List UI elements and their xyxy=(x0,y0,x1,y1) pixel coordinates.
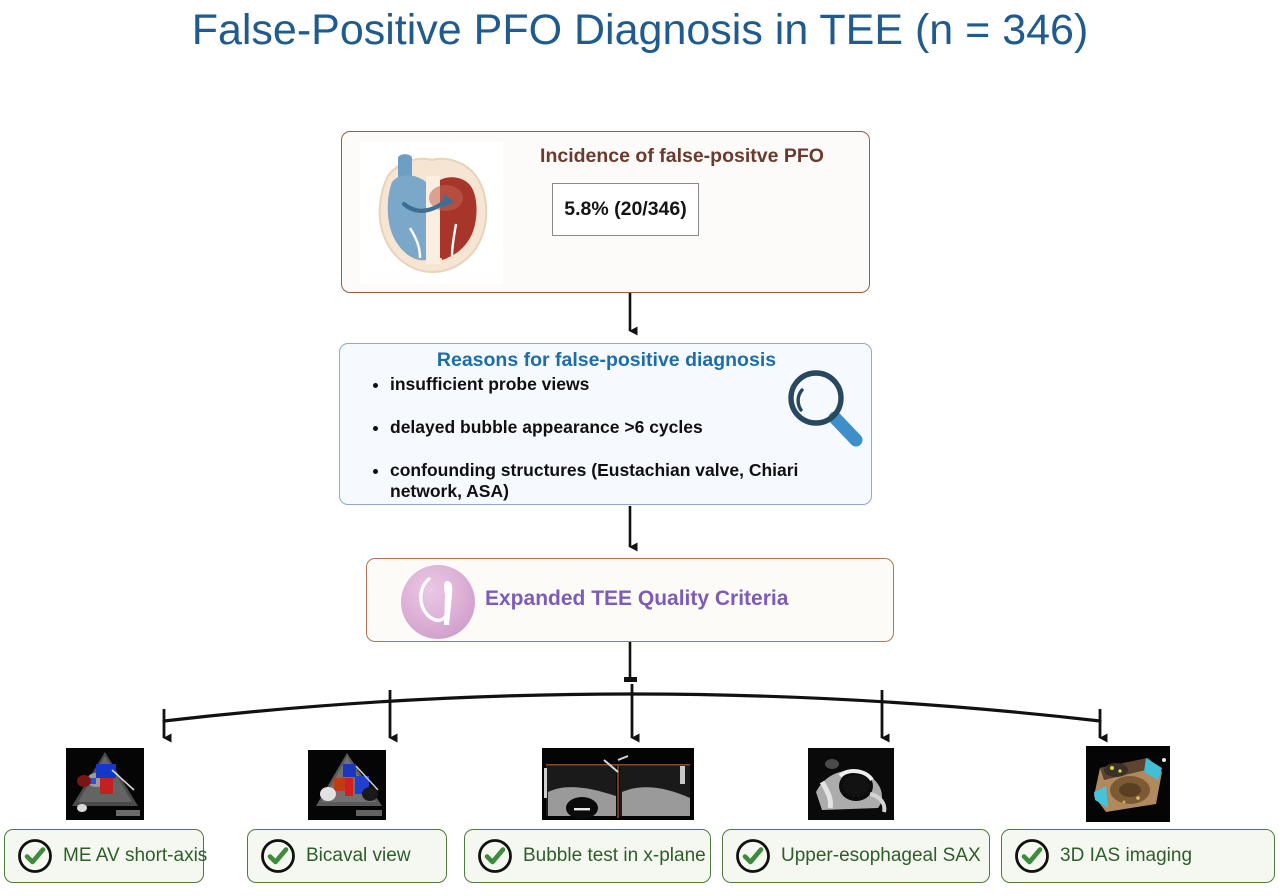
criteria-pill-bicaval-view[interactable]: Bicaval view xyxy=(247,829,447,883)
tee-probe-icon xyxy=(399,563,477,641)
criteria-pill-label: Bicaval view xyxy=(306,845,411,867)
criteria-pill-label: 3D IAS imaging xyxy=(1060,845,1192,867)
check-circle-icon xyxy=(735,838,771,874)
incidence-card: Incidence of false-positve PFO 5.8% (20/… xyxy=(341,131,870,293)
check-circle-icon xyxy=(260,838,296,874)
thumbnail-me-av-short-axis xyxy=(66,748,144,820)
magnifying-glass-icon xyxy=(780,364,866,450)
incidence-value: 5.8% (20/346) xyxy=(552,183,699,236)
heart-anatomy-illustration xyxy=(360,142,503,284)
criteria-pill-label: ME AV short-axis xyxy=(63,845,207,867)
thumbnail-upper-esophageal-sax xyxy=(808,748,894,820)
criteria-card: Expanded TEE Quality Criteria xyxy=(366,558,894,642)
check-circle-icon xyxy=(1014,838,1050,874)
thumbnail-bicaval-view xyxy=(308,750,386,820)
thumbnail-bubble-test-x-plane xyxy=(542,748,694,820)
criteria-pill-3d-ias-imaging[interactable]: 3D IAS imaging xyxy=(1001,829,1275,883)
check-circle-icon xyxy=(17,838,53,874)
criteria-pill-label: Bubble test in x-plane xyxy=(523,845,706,867)
incidence-heading: Incidence of false-positve PFO xyxy=(502,145,862,168)
page-title: False-Positive PFO Diagnosis in TEE (n =… xyxy=(0,6,1280,55)
reasons-card: Reasons for false-positive diagnosis ins… xyxy=(339,343,872,505)
criteria-pill-upper-esophageal-sax[interactable]: Upper-esophageal SAX xyxy=(722,829,990,883)
list-item: confounding structures (Eustachian valve… xyxy=(390,460,850,502)
thumbnail-3d-ias-imaging xyxy=(1086,746,1170,822)
check-circle-icon xyxy=(477,838,513,874)
criteria-heading: Expanded TEE Quality Criteria xyxy=(485,587,788,611)
criteria-pill-me-av-short-axis[interactable]: ME AV short-axis xyxy=(4,829,204,883)
criteria-pill-bubble-test-x-plane[interactable]: Bubble test in x-plane xyxy=(464,829,711,883)
reasons-list: insufficient probe views delayed bubble … xyxy=(366,374,850,524)
criteria-pill-label: Upper-esophageal SAX xyxy=(781,845,981,867)
diagram-canvas: False-Positive PFO Diagnosis in TEE (n =… xyxy=(0,0,1280,896)
